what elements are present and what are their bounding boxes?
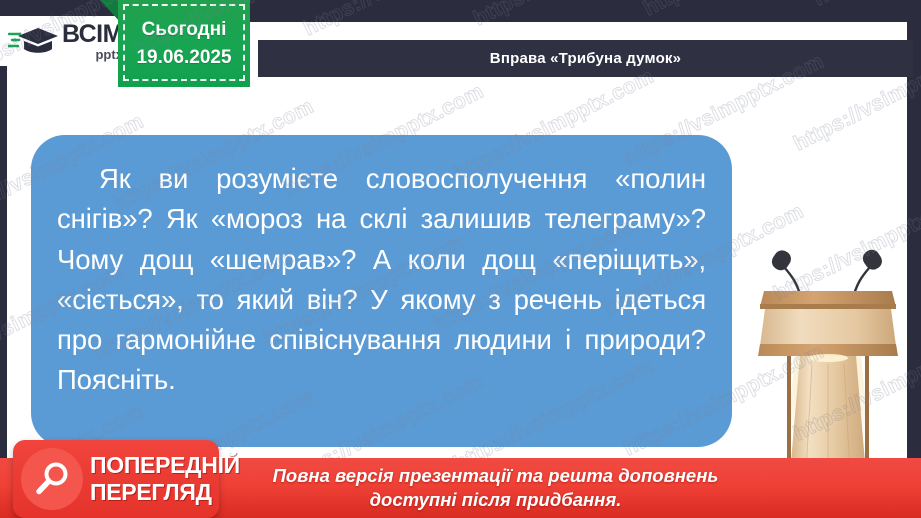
preview-label: ПОПЕРЕДНІЙ ПЕРЕГЛЯД — [90, 454, 240, 504]
presentation-slide: п с Як ви розумієте словосполучення «пол… — [0, 0, 921, 518]
slide-title: Вправа «Трибуна думок» — [490, 50, 681, 67]
purchase-notice-line-2: доступні після придбання. — [273, 488, 719, 512]
date-badge: Сьогодні 19.06.2025 — [118, 0, 250, 87]
purchase-notice-line-1: Повна версія презентації та решта доповн… — [273, 464, 719, 488]
purchase-notice-text: Повна версія презентації та решта доповн… — [203, 464, 719, 511]
preview-badge[interactable]: ПОПЕРЕДНІЙ ПЕРЕГЛЯД — [13, 440, 219, 518]
slide-canvas: п с Як ви розумієте словосполучення «пол… — [7, 22, 907, 512]
date-badge-label: Сьогодні — [142, 16, 227, 44]
slide-title-bar: Вправа «Трибуна думок» — [258, 40, 913, 77]
watermark: https://vsimpptx.com — [640, 0, 848, 21]
logo-title: ВСІМ — [62, 22, 123, 47]
podium-illustration — [740, 234, 907, 488]
date-badge-value: 19.06.2025 — [136, 44, 231, 72]
watermark: https://vsimpptx.com — [810, 0, 921, 11]
preview-label-line-2: ПЕРЕГЛЯД — [90, 481, 240, 504]
question-text: Як ви розумієте словосполучення «полин с… — [57, 159, 706, 401]
preview-label-line-1: ПОПЕРЕДНІЙ — [90, 454, 240, 477]
logo-subtitle: pptx — [62, 48, 123, 61]
question-panel: Як ви розумієте словосполучення «полин с… — [31, 135, 732, 447]
graduation-cap-icon — [8, 24, 60, 58]
magnifier-icon — [32, 459, 72, 499]
magnifier-icon-circle — [21, 448, 83, 510]
